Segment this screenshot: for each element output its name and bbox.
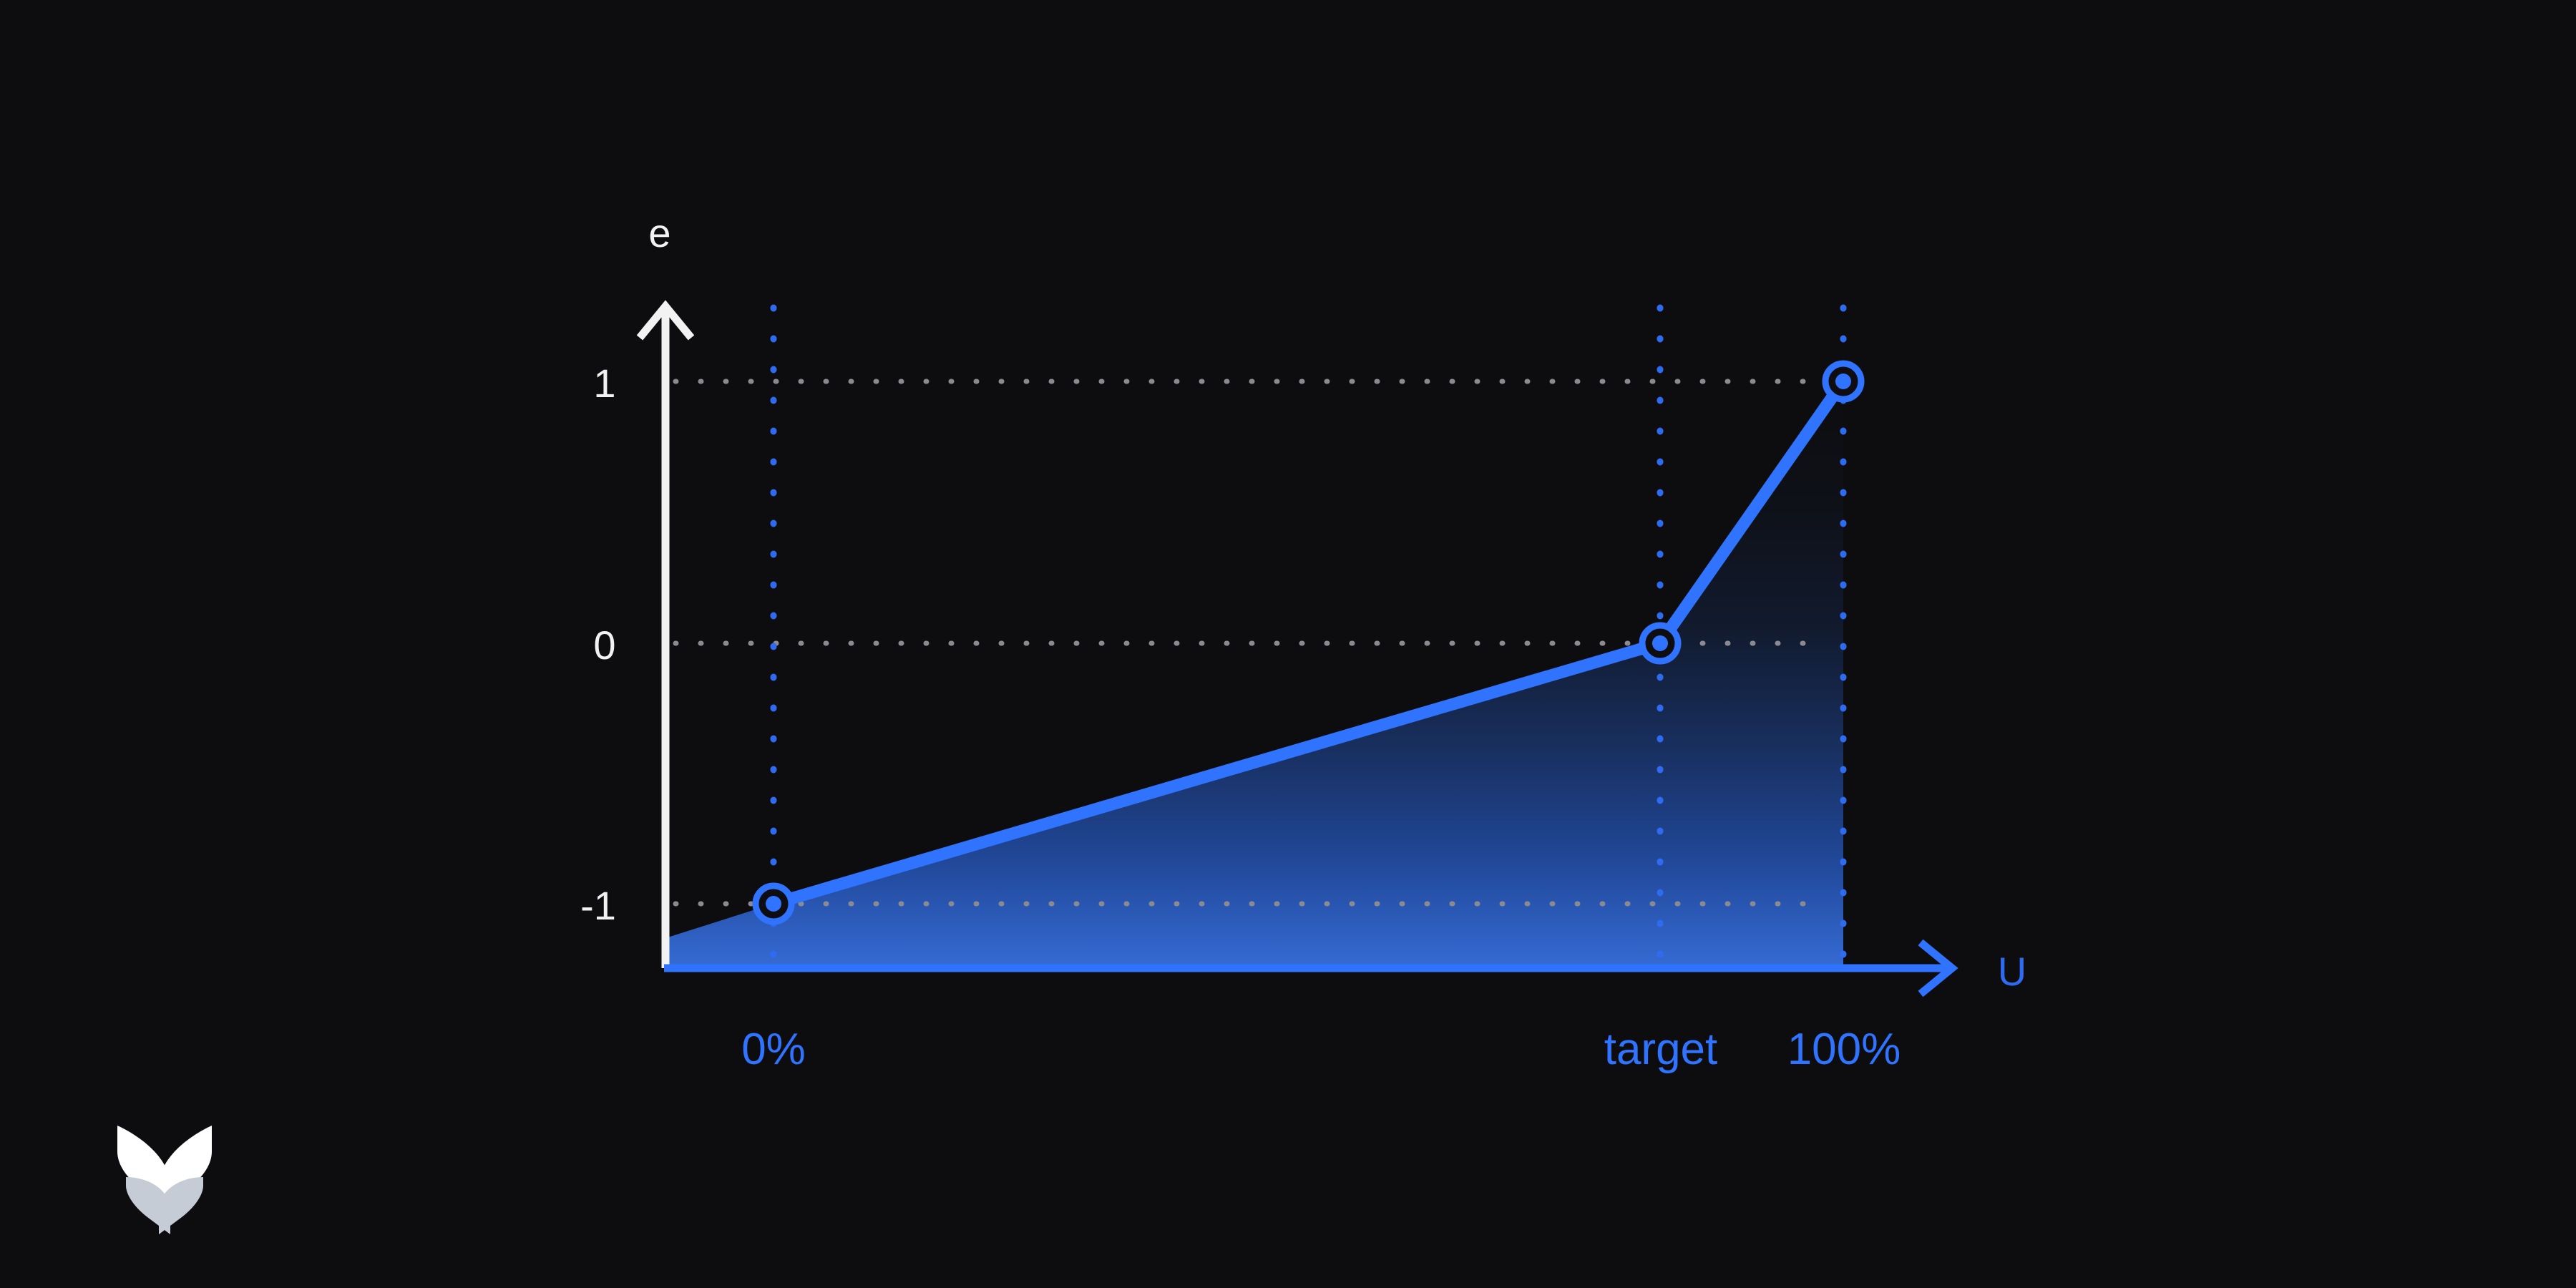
chart-canvas: e U 1 0 -1 0% target 100% [0, 0, 2576, 1288]
y-axis-title: e [648, 210, 670, 255]
y-tick-label-minus-1: -1 [580, 883, 616, 928]
data-point-marker[interactable] [1642, 625, 1678, 661]
x-tick-label-0pct: 0% [741, 1025, 806, 1074]
data-point-marker[interactable] [1825, 364, 1861, 399]
marker-core-0pct [766, 896, 781, 912]
marker-core-100pct [1835, 374, 1851, 389]
error-vs-utilization-chart: e U 1 0 -1 0% target 100% [0, 0, 2576, 1288]
marker-core-target [1652, 635, 1668, 651]
x-tick-labels: 0% target 100% [741, 1025, 1901, 1074]
x-tick-label-target: target [1604, 1025, 1718, 1074]
data-point-marker[interactable] [756, 886, 791, 922]
y-tick-labels: 1 0 -1 [580, 361, 616, 928]
y-axis [640, 306, 691, 968]
x-tick-label-100pct: 100% [1787, 1025, 1901, 1074]
y-tick-label-1: 1 [593, 361, 615, 406]
x-axis-title: U [1998, 949, 2026, 994]
butterfly-logo [117, 1126, 212, 1234]
y-tick-label-0: 0 [593, 623, 615, 668]
